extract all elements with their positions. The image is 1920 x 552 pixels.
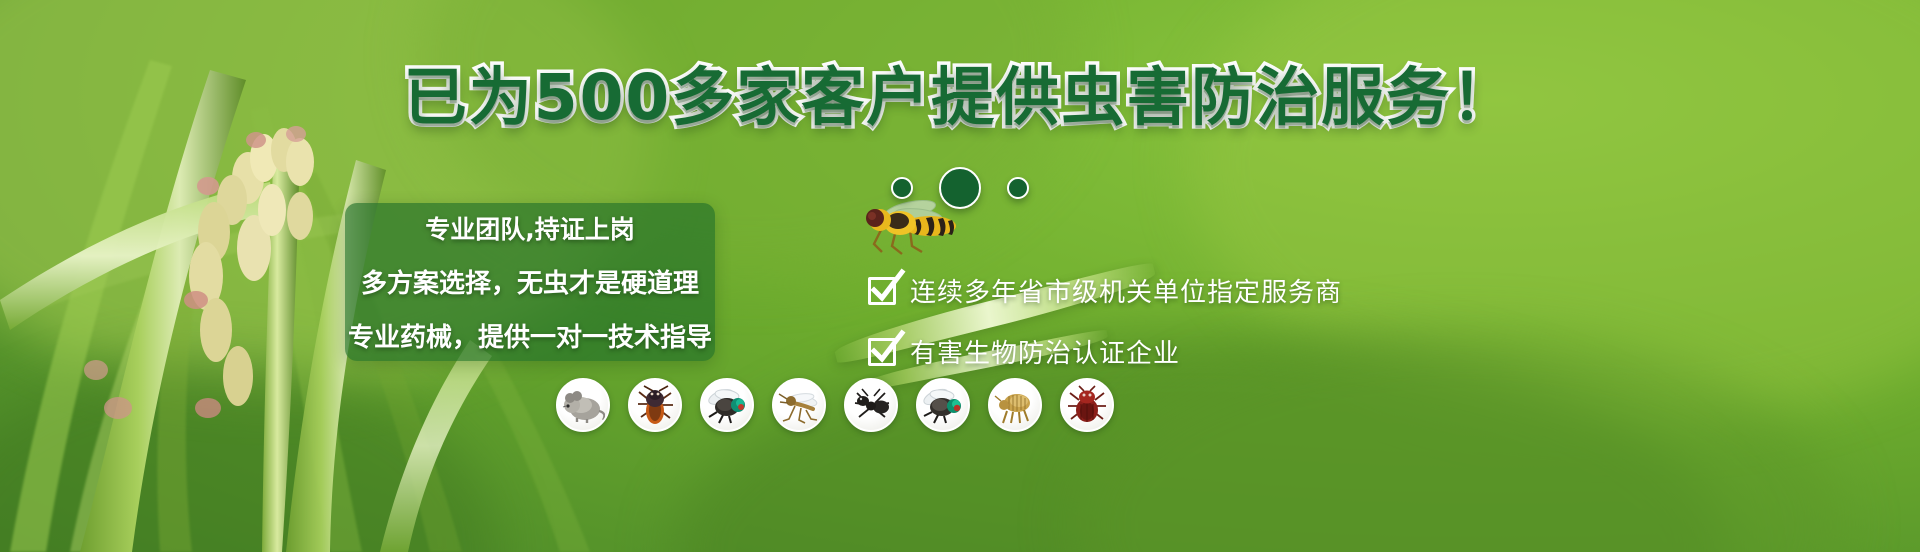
fly-icon[interactable]	[700, 378, 754, 432]
cockroach-icon[interactable]	[628, 378, 682, 432]
ant-icon[interactable]	[844, 378, 898, 432]
mouse-icon[interactable]	[556, 378, 610, 432]
promo-banner: 已为500多家客户提供虫害防治服务！ 专业团队,持证上岗 多方案选择，无虫才是硬…	[0, 0, 1920, 552]
blowfly-icon[interactable]	[916, 378, 970, 432]
dot-small-left	[891, 177, 913, 199]
dot-large-center	[939, 167, 981, 209]
flea-icon[interactable]	[988, 378, 1042, 432]
checklist-label-2: 有害生物防治认证企业	[910, 333, 1180, 370]
dot-small-right	[1007, 177, 1029, 199]
checkbox-checked-icon	[868, 338, 896, 366]
slogan-line-3: 专业药械，提供一对一技术指导	[348, 317, 712, 354]
list-item: 有害生物防治认证企业	[868, 333, 1342, 370]
checklist-label-1: 连续多年省市级机关单位指定服务商	[910, 272, 1342, 309]
checkbox-checked-icon	[868, 277, 896, 305]
bedbug-icon[interactable]	[1060, 378, 1114, 432]
decorative-dots	[0, 160, 1920, 216]
credentials-checklist: 连续多年省市级机关单位指定服务商 有害生物防治认证企业	[868, 272, 1342, 370]
pest-icon-strip	[556, 378, 1114, 432]
slogan-panel-content: 专业团队,持证上岗 多方案选择，无虫才是硬道理 专业药械，提供一对一技术指导	[345, 203, 715, 361]
headline-container: 已为500多家客户提供虫害防治服务！	[0, 66, 1920, 129]
page-title: 已为500多家客户提供虫害防治服务！	[404, 66, 1517, 129]
slogan-line-1: 专业团队,持证上岗	[425, 210, 635, 246]
mosquito-icon[interactable]	[772, 378, 826, 432]
slogan-line-2: 多方案选择，无虫才是硬道理	[361, 263, 699, 300]
list-item: 连续多年省市级机关单位指定服务商	[868, 272, 1342, 309]
